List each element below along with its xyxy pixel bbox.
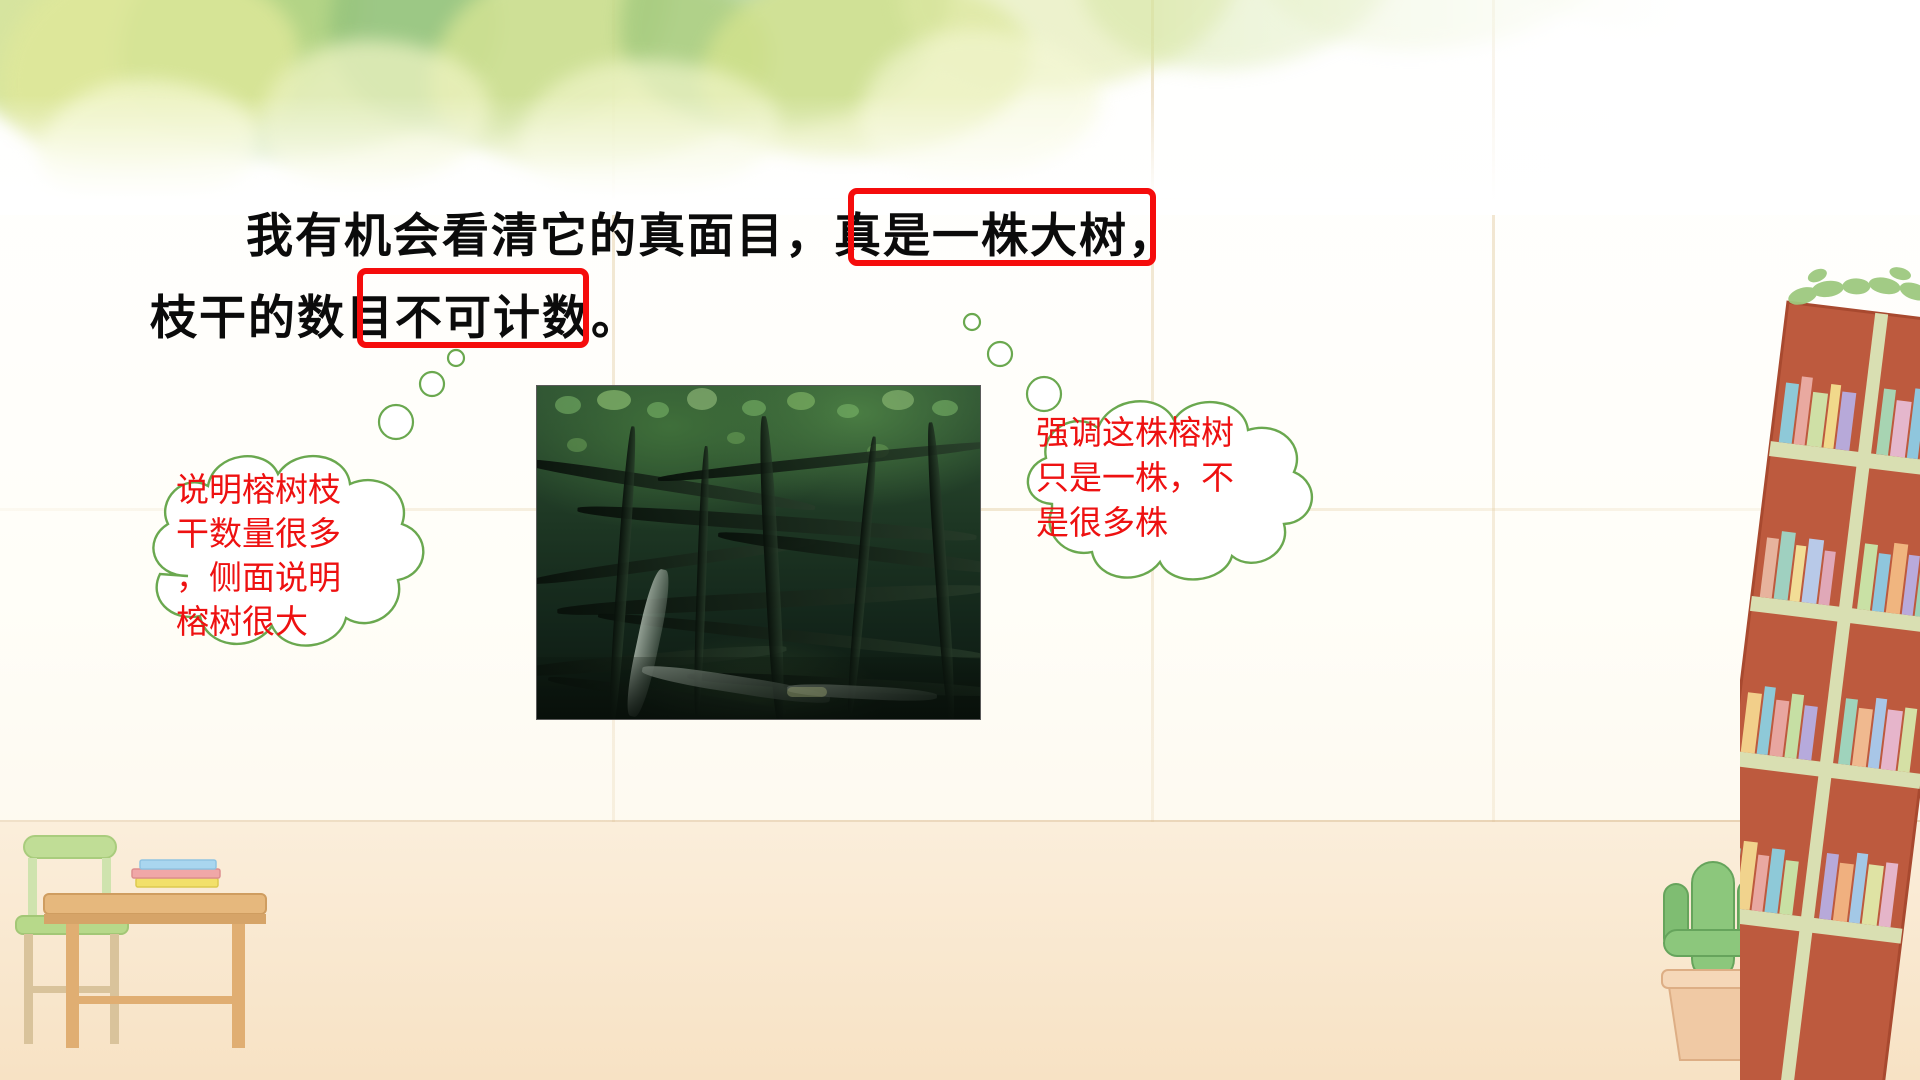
- left-bubble-trail: [356, 344, 476, 454]
- slide-canvas: 我有机会看清它的真面目，真是一株大树， 枝干的数目不可计数。: [0, 0, 1920, 1080]
- main-text-line-1-content: 我有机会看清它的真面目，真是一株大树，: [246, 209, 1177, 264]
- right-bubble-trail: [938, 282, 1078, 422]
- banyan-tree-photo: [537, 386, 980, 719]
- left-thought-bubble: 说明榕树枝 干数量很多 ，侧面说明 榕树很大: [110, 408, 470, 708]
- leaning-bookshelf: [1740, 250, 1920, 1080]
- right-bubble-line: 是很多株: [1036, 500, 1304, 545]
- bookshelf-illustration: [1740, 250, 1920, 1080]
- right-thought-bubble: 强调这株榕树 只是一株，不 是很多株: [1000, 372, 1340, 622]
- floor-band: [0, 822, 1920, 1080]
- left-bubble-text: 说明榕树枝 干数量很多 ，侧面说明 榕树很大: [176, 468, 406, 644]
- right-bubble-text: 强调这株榕树 只是一株，不 是很多株: [1036, 410, 1304, 545]
- main-text-line-2: 枝干的数目不可计数。: [150, 278, 1270, 360]
- desk-and-chair-group: [10, 800, 280, 1080]
- watercolor-banner: [0, 0, 1920, 215]
- right-bubble-line: 强调这株榕树: [1036, 410, 1304, 455]
- left-bubble-line: ，侧面说明: [176, 556, 406, 600]
- left-bubble-line: 干数量很多: [176, 512, 406, 556]
- left-bubble-line: 说明榕树枝: [176, 468, 406, 512]
- desk-chair-illustration: [10, 800, 280, 1080]
- left-bubble-line: 榕树很大: [176, 600, 406, 644]
- right-bubble-line: 只是一株，不: [1036, 455, 1304, 500]
- main-text-line-1: 我有机会看清它的真面目，真是一株大树，: [150, 196, 1270, 278]
- main-text-block: 我有机会看清它的真面目，真是一株大树， 枝干的数目不可计数。: [150, 196, 1270, 360]
